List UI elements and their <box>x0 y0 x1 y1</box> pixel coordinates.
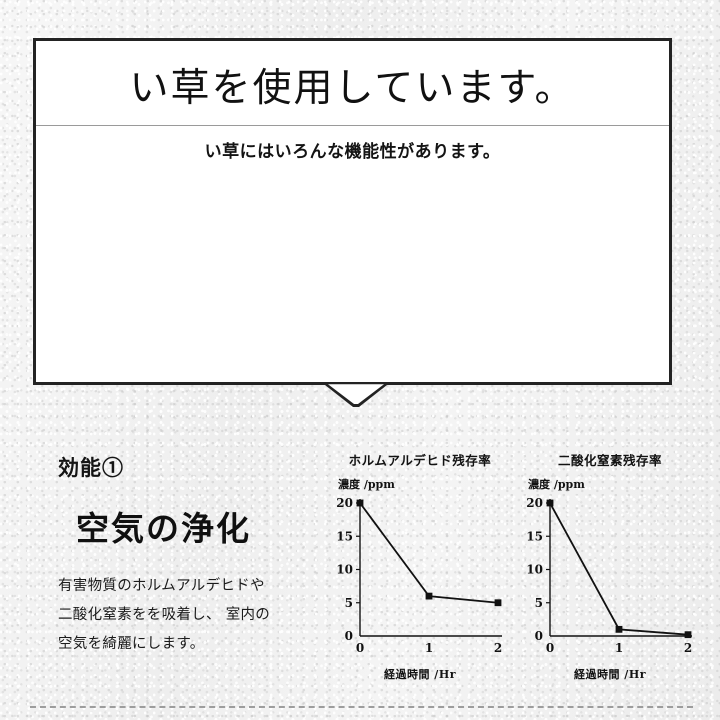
chart-title: 二酸化窒素残存率 <box>520 450 700 469</box>
svg-text:2: 2 <box>684 641 692 655</box>
svg-text:1: 1 <box>615 641 623 655</box>
chart-y-axis-label: 濃度 /ppm <box>528 476 700 492</box>
svg-text:10: 10 <box>526 563 543 577</box>
svg-text:2: 2 <box>494 641 502 655</box>
chart-y-axis-label: 濃度 /ppm <box>338 476 510 492</box>
svg-text:0: 0 <box>535 629 543 643</box>
svg-text:1: 1 <box>425 641 433 655</box>
efficacy-section: 効能① 空気の浄化 有害物質のホルムアルデヒドや 二酸化窒素をを吸着し、 室内の… <box>58 452 318 659</box>
svg-text:0: 0 <box>345 629 353 643</box>
svg-text:5: 5 <box>345 596 353 610</box>
chart-title: ホルムアルデヒド残存率 <box>330 450 510 469</box>
downward-chevron-icon <box>325 382 387 408</box>
bottom-dashed-divider <box>30 706 693 708</box>
svg-text:5: 5 <box>535 596 543 610</box>
efficacy-description: 有害物質のホルムアルデヒドや 二酸化窒素をを吸着し、 室内の 空気を綺麗にします… <box>58 572 318 659</box>
chart-x-axis-label: 経過時間 /Hr <box>330 666 510 682</box>
hero-frame: い草を使用しています。 い草にはいろんな機能性があります。 <box>33 38 672 385</box>
efficacy-number-label: 効能① <box>58 452 318 482</box>
svg-text:0: 0 <box>356 641 364 655</box>
chart-formaldehyde: ホルムアルデヒド残存率 濃度 /ppm 05101520012 経過時間 /Hr <box>330 450 510 682</box>
chart-plot-area: 05101520012 <box>520 493 700 668</box>
chart-plot-area: 05101520012 <box>330 493 510 668</box>
description-line: 有害物質のホルムアルデヒドや <box>58 572 318 601</box>
chart-x-axis-label: 経過時間 /Hr <box>520 666 700 682</box>
svg-text:0: 0 <box>546 641 554 655</box>
svg-text:20: 20 <box>526 496 543 510</box>
svg-text:20: 20 <box>336 496 353 510</box>
charts-area: ホルムアルデヒド残存率 濃度 /ppm 05101520012 経過時間 /Hr… <box>330 450 700 682</box>
efficacy-heading: 空気の浄化 <box>76 502 318 550</box>
svg-text:10: 10 <box>336 563 353 577</box>
svg-text:15: 15 <box>526 529 543 543</box>
svg-text:15: 15 <box>336 529 353 543</box>
description-line: 二酸化窒素をを吸着し、 室内の <box>58 601 318 630</box>
hero-subtitle: い草にはいろんな機能性があります。 <box>36 126 669 173</box>
page-title: い草を使用しています。 <box>36 41 669 125</box>
description-line: 空気を綺麗にします。 <box>58 630 318 659</box>
chart-nitrogen-dioxide: 二酸化窒素残存率 濃度 /ppm 05101520012 経過時間 /Hr <box>520 450 700 682</box>
